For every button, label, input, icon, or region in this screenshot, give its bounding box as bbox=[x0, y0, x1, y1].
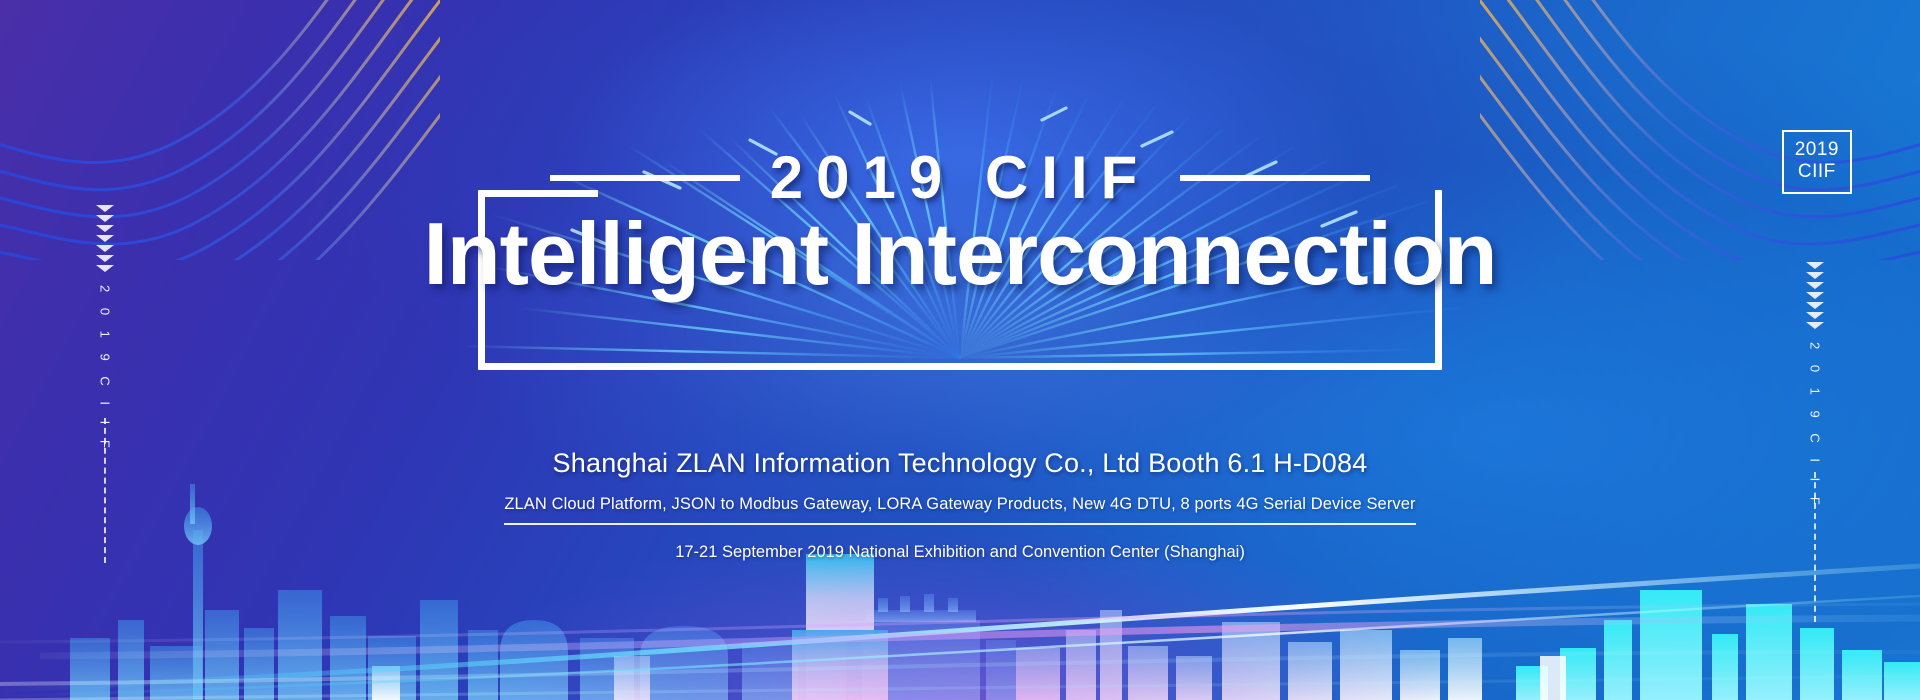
chevron-down-icon bbox=[96, 235, 114, 242]
ciif-badge: 2019 CIIF bbox=[1782, 130, 1852, 194]
chevron-down-icon-group-right bbox=[1806, 262, 1824, 332]
chevron-down-icon bbox=[1806, 302, 1824, 309]
chevron-down-icon bbox=[1806, 282, 1824, 289]
chevron-down-icon-group-left bbox=[96, 205, 114, 275]
company-and-booth: Shanghai ZLAN Information Technology Co.… bbox=[410, 448, 1510, 479]
ciif-badge-event: CIIF bbox=[1795, 161, 1839, 183]
dashed-rule-left bbox=[104, 418, 106, 563]
eyebrow-row: 2019 CIIF bbox=[410, 148, 1510, 208]
chevron-down-icon bbox=[1806, 262, 1824, 269]
chevron-down-icon bbox=[1806, 312, 1824, 319]
event-name: 2019 CIIF bbox=[770, 148, 1150, 208]
dashed-rule-right bbox=[1814, 472, 1816, 622]
rail-right: 2 0 1 9 C I I F bbox=[1770, 0, 1860, 700]
chevron-down-icon bbox=[96, 215, 114, 222]
banner-content: 2019 CIIF Intelligent Interconnection Sh… bbox=[410, 0, 1510, 700]
chevron-down-icon bbox=[1806, 292, 1824, 299]
chevron-down-icon bbox=[1806, 272, 1824, 279]
eyebrow-rule-left bbox=[550, 175, 740, 181]
date-and-venue: 17-21 September 2019 National Exhibition… bbox=[410, 543, 1510, 562]
chevron-down-icon bbox=[96, 265, 114, 272]
eyebrow-rule-right bbox=[1180, 175, 1370, 181]
ciif-badge-year: 2019 bbox=[1795, 139, 1839, 161]
event-banner: 2019 CIIF Intelligent Interconnection Sh… bbox=[0, 0, 1920, 700]
rail-left: 2 0 1 9 C I I F bbox=[60, 0, 150, 700]
products-row: ZLAN Cloud Platform, JSON to Modbus Gate… bbox=[410, 495, 1510, 525]
headline-bracket-bottom-rule bbox=[478, 363, 1442, 370]
chevron-down-icon bbox=[96, 255, 114, 262]
page-title: Intelligent Interconnection bbox=[410, 205, 1510, 304]
product-list: ZLAN Cloud Platform, JSON to Modbus Gate… bbox=[504, 495, 1415, 525]
chevron-down-icon bbox=[96, 245, 114, 252]
chevron-down-icon bbox=[96, 225, 114, 232]
chevron-down-icon bbox=[96, 205, 114, 212]
chevron-down-icon bbox=[1806, 322, 1824, 329]
